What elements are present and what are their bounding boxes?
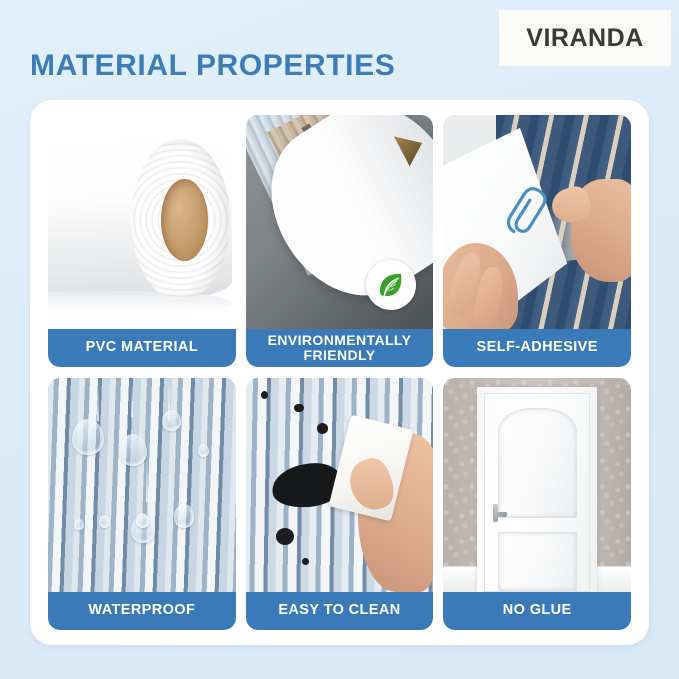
droplet-trail <box>97 382 99 421</box>
feature-label-environmentally-friendly: ENVIRONMENTALLY FRIENDLY <box>246 329 434 367</box>
water-droplets-image <box>48 378 236 592</box>
water-droplet <box>72 419 104 455</box>
door-slab-shape <box>484 393 590 592</box>
feature-card-easy-to-clean[interactable]: EASY TO CLEAN <box>246 378 434 630</box>
baseboard-left-shape <box>443 566 479 592</box>
wiping-cloth-image <box>246 378 434 592</box>
feature-card-no-glue[interactable]: NO GLUE <box>443 378 631 630</box>
door-frame-shape <box>477 387 597 592</box>
brand-logo-text: VIRANDA <box>526 24 643 53</box>
feature-card-environmentally-friendly[interactable]: ENVIRONMENTALLY FRIENDLY <box>246 115 434 367</box>
baseboard-right-shape <box>595 566 631 592</box>
water-droplet <box>174 504 195 528</box>
feature-card-waterproof[interactable]: WATERPROOF <box>48 378 236 630</box>
droplet-trail <box>146 455 148 502</box>
water-droplet <box>136 513 149 528</box>
water-droplet <box>162 410 181 431</box>
feature-card-grid: PVC MATERIAL ENV <box>48 115 631 630</box>
feature-label-easy-to-clean: EASY TO CLEAN <box>246 592 434 630</box>
feature-label-no-glue: NO GLUE <box>443 592 631 630</box>
header: MATERIAL PROPERTIES VIRANDA <box>0 0 679 100</box>
water-droplet <box>74 519 83 530</box>
rolled-wallpaper-image <box>246 115 434 329</box>
water-droplet <box>198 444 209 457</box>
pvc-roll-image <box>48 115 236 329</box>
door-handle-bar-shape <box>495 512 507 517</box>
feature-card-self-adhesive[interactable]: SELF-ADHESIVE <box>443 115 631 367</box>
peeling-backing-image <box>443 115 631 329</box>
page-title: MATERIAL PROPERTIES <box>30 49 395 83</box>
droplet-trail <box>131 387 133 417</box>
leaf-icon <box>374 268 408 302</box>
feature-label-waterproof: WATERPROOF <box>48 592 236 630</box>
stain-spot <box>261 391 269 400</box>
white-door-image <box>443 378 631 592</box>
content-panel: PVC MATERIAL ENV <box>30 100 649 645</box>
roll-sheet-edge-shape <box>48 291 232 317</box>
roll-cardboard-core-shape <box>161 179 208 260</box>
stain-spot <box>302 558 310 565</box>
feature-label-self-adhesive: SELF-ADHESIVE <box>443 329 631 367</box>
feature-card-pvc-material[interactable]: PVC MATERIAL <box>48 115 236 367</box>
brand-logo: VIRANDA <box>499 10 671 66</box>
stain-spot <box>317 423 328 434</box>
door-panel-top-shape <box>498 408 577 518</box>
door-panel-bottom-shape <box>498 532 577 591</box>
stain-spot <box>276 528 295 545</box>
water-droplet <box>119 434 147 466</box>
water-droplet <box>99 515 110 528</box>
feature-label-pvc-material: PVC MATERIAL <box>48 329 236 367</box>
stain-spot <box>294 404 303 413</box>
eco-badge <box>366 260 416 310</box>
